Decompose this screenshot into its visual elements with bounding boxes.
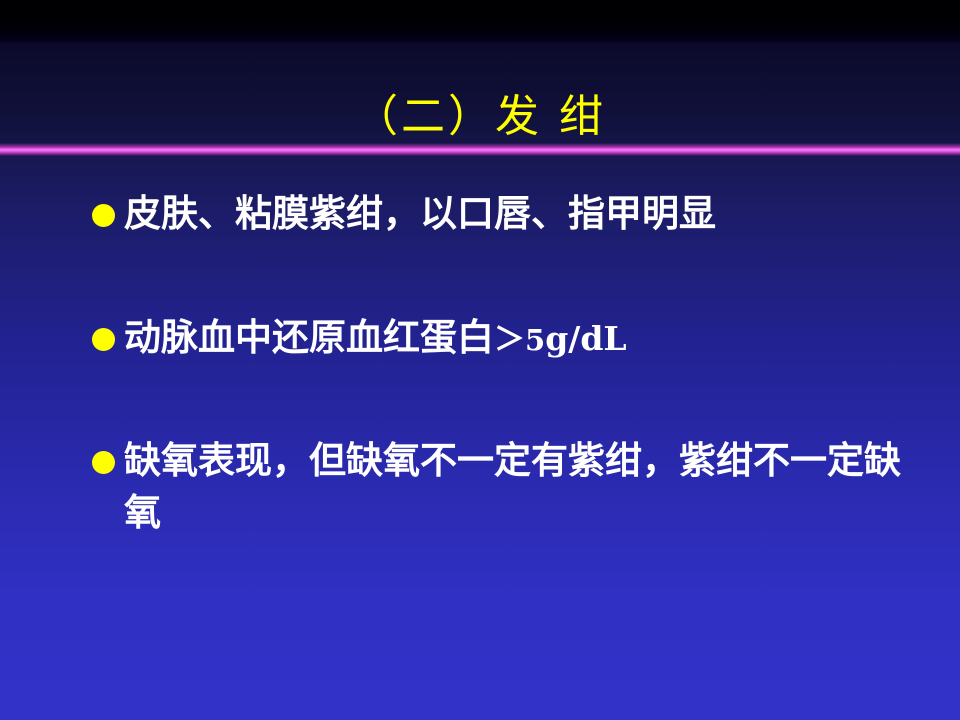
list-item-text-main: 动脉血中还原血红蛋白	[124, 316, 494, 359]
title-divider-line	[0, 143, 960, 156]
list-item-label: 缺氧表现，但缺氧不一定有紫绀，紫绀不一定缺氧	[124, 435, 912, 539]
bullet-dot-icon	[92, 451, 115, 474]
slide-title: （二）发 绀	[0, 92, 960, 142]
list-item: 皮肤、粘膜紫绀，以口唇、指甲明显	[92, 188, 912, 240]
list-item: 缺氧表现，但缺氧不一定有紫绀，紫绀不一定缺氧	[92, 435, 912, 539]
presentation-slide: （二）发 绀 皮肤、粘膜紫绀，以口唇、指甲明显 动脉血中还原血红蛋白＞5g/dL…	[0, 0, 960, 720]
greater-than-operator: ＞	[494, 322, 525, 358]
threshold-value: 5	[525, 323, 545, 357]
threshold-unit: g/dL	[545, 319, 626, 358]
bullet-dot-icon	[92, 204, 115, 227]
slide-body: 皮肤、粘膜紫绀，以口唇、指甲明显 动脉血中还原血红蛋白＞5g/dL 缺氧表现，但…	[0, 188, 960, 688]
list-item: 动脉血中还原血红蛋白＞5g/dL	[92, 312, 912, 366]
list-item-label: 动脉血中还原血红蛋白＞5g/dL	[124, 312, 912, 366]
bullet-dot-icon	[92, 328, 115, 351]
list-item-label: 皮肤、粘膜紫绀，以口唇、指甲明显	[124, 188, 912, 240]
